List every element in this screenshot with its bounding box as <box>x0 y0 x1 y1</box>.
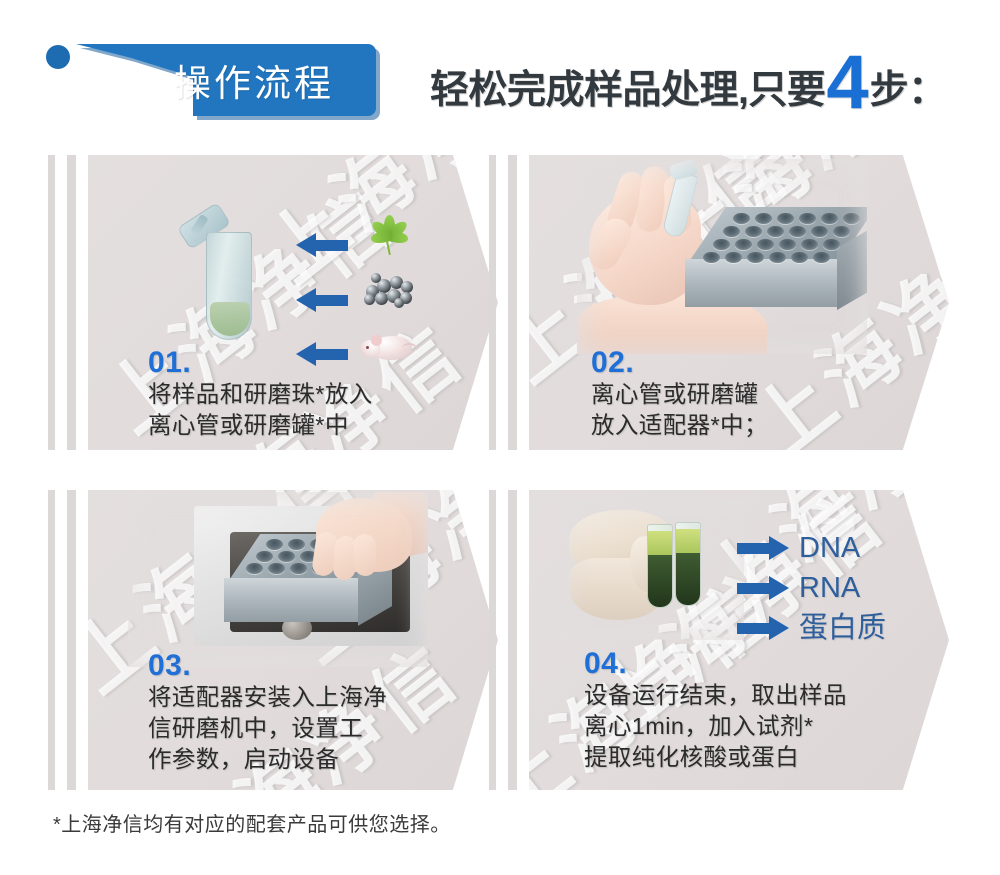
block-front-face <box>685 259 837 307</box>
step-description: 设备运行结束，取出样品 离心1min，加入试剂* 提取纯化核酸或蛋白 <box>584 680 847 773</box>
card-stripes <box>48 490 78 790</box>
step-card-04: 上海净信 上海净信 上海净信 <box>489 490 949 790</box>
step-01-artwork <box>88 155 498 365</box>
step-number: 02. <box>591 347 768 379</box>
step-04-photo <box>559 500 744 640</box>
banner-label: 操作流程 <box>76 44 376 116</box>
card-body: 上海净信 上海净信 上海净信 <box>88 490 498 790</box>
step-02-photo <box>577 159 867 354</box>
arrow-left-icon <box>296 233 348 257</box>
card-stripes <box>489 490 519 790</box>
stripe-inner <box>508 155 517 450</box>
arrow-right-icon <box>737 576 789 600</box>
step-01-caption: 01. 将样品和研磨珠*放入 离心管或研磨罐*中 <box>148 347 373 441</box>
stripe-inner <box>67 155 76 450</box>
card-body: 上海净信 上海净信 上海净信 <box>529 155 949 450</box>
adapter-block <box>685 207 865 327</box>
step-number: 01. <box>148 347 373 379</box>
step-description: 离心管或研磨罐 放入适配器*中； <box>591 379 768 441</box>
grinding-beads-icon <box>364 273 416 307</box>
step-description: 将适配器安装入上海净 信研磨机中，设置工 作参数，启动设备 <box>148 682 387 775</box>
output-label: 蛋白质 <box>799 608 886 648</box>
centrifuge-tube-icon <box>206 220 252 340</box>
card-body: 上海净信 上海净信 上海净信 <box>88 155 498 450</box>
step-02-caption: 02. 离心管或研磨罐 放入适配器*中； <box>591 347 768 441</box>
stripe-inner <box>508 490 517 790</box>
stripe-outer <box>489 490 496 790</box>
arrow-right-icon <box>737 616 789 640</box>
leaf-icon <box>366 213 412 257</box>
step-number: 04. <box>584 648 847 680</box>
tagline-part2: 步： <box>870 59 947 115</box>
stripe-outer <box>489 155 496 450</box>
card-body: 上海净信 上海净信 上海净信 <box>529 490 949 790</box>
stripe-inner <box>67 490 76 790</box>
stripe-outer <box>48 155 55 450</box>
sample-vial <box>647 524 673 608</box>
step-description: 将样品和研磨珠*放入 离心管或研磨罐*中 <box>148 379 373 441</box>
output-label: RNA <box>799 568 860 608</box>
sample-vial <box>675 522 701 606</box>
footnote: *上海净信均有对应的配套产品可供您选择。 <box>53 808 451 837</box>
header: 操作流程 轻松完成样品处理,只要 4 步： <box>0 0 1000 150</box>
card-stripes <box>489 155 519 450</box>
tube-body <box>206 232 252 340</box>
finger <box>353 534 376 577</box>
step-03-photo <box>128 492 428 667</box>
pellet <box>676 553 700 605</box>
header-dot-icon <box>46 45 70 69</box>
infographic-page: 操作流程 轻松完成样品处理,只要 4 步： 上海净信 上海净信 上海净信 <box>0 0 1000 875</box>
step-04-caption: 04. 设备运行结束，取出样品 离心1min，加入试剂* 提取纯化核酸或蛋白 <box>584 648 847 773</box>
arrow-right-icon <box>737 536 789 560</box>
section-banner: 操作流程 <box>76 44 376 116</box>
stripe-outer <box>48 490 55 790</box>
step-number: 03. <box>148 650 387 682</box>
mouse-ear <box>371 335 382 346</box>
pellet <box>648 555 672 607</box>
step-card-03: 上海净信 上海净信 上海净信 <box>48 490 498 790</box>
hand <box>308 492 428 608</box>
step-card-01: 上海净信 上海净信 上海净信 <box>48 155 498 450</box>
tagline-part1: 轻松完成样品处理,只要 <box>430 59 825 115</box>
header-tagline: 轻松完成样品处理,只要 4 步： <box>430 48 947 115</box>
tube-cap <box>669 159 698 181</box>
arrow-left-icon <box>296 288 348 312</box>
step-03-caption: 03. 将适配器安装入上海净 信研磨机中，设置工 作参数，启动设备 <box>148 650 387 775</box>
supernatant <box>676 529 700 555</box>
output-label: DNA <box>799 528 860 568</box>
supernatant <box>648 531 672 557</box>
tagline-step-count: 4 <box>826 53 868 114</box>
tube-hinge <box>190 214 208 236</box>
tube-sample <box>210 302 250 336</box>
step-card-02: 上海净信 上海净信 上海净信 <box>489 155 949 450</box>
card-stripes <box>48 155 78 450</box>
